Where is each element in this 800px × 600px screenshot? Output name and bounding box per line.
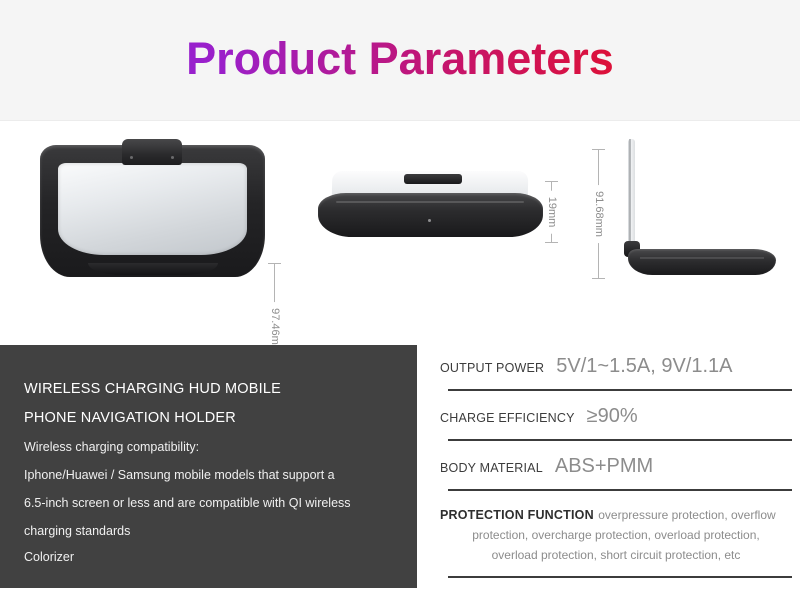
- hud-base-foot: [88, 263, 218, 275]
- spec-label-protection-function: PROTECTION FUNCTION: [440, 508, 594, 522]
- product-image-strip: 159.76mm 97.46mm 19mm 91.68mm: [0, 121, 800, 335]
- product-side-view: [618, 137, 778, 267]
- product-name-line2: PHONE NAVIGATION HOLDER: [24, 404, 393, 433]
- compatibility-label: Wireless charging compatibility:: [24, 433, 393, 461]
- spec-label-output-power: OUTPUT POWER: [440, 361, 544, 375]
- compatibility-line-1: Iphone/Huawei / Samsung mobile models th…: [24, 461, 393, 489]
- product-front-view: [40, 139, 265, 284]
- hud-top-clip: [122, 139, 182, 165]
- folded-base: [318, 193, 543, 237]
- compatibility-line-2: 6.5-inch screen or less and are compatib…: [24, 489, 393, 517]
- spec-row-body-material: BODY MATERIAL ABS+PMM: [440, 455, 792, 478]
- spec-value-protection-line1: overpressure protection, overflow: [598, 508, 775, 522]
- description-panel: WIRELESS CHARGING HUD MOBILE PHONE NAVIG…: [0, 345, 417, 588]
- dimension-stand-height: 91.68mm: [592, 149, 606, 279]
- spec-row-protection-function: PROTECTION FUNCTION overpressure protect…: [440, 505, 792, 565]
- spec-value-charge-efficiency: ≥90%: [587, 405, 638, 428]
- spec-divider: [448, 389, 792, 391]
- spec-divider: [448, 576, 792, 578]
- product-name-line1: WIRELESS CHARGING HUD MOBILE: [24, 375, 393, 404]
- spec-row-charge-efficiency: CHARGE EFFICIENCY ≥90%: [440, 405, 792, 428]
- side-base: [628, 249, 776, 275]
- dimension-thickness: 19mm: [545, 181, 559, 243]
- side-reflector-blade: [628, 139, 635, 249]
- colorizer-line: Colorizer: [24, 545, 393, 569]
- compatibility-line-3: charging standards: [24, 517, 393, 545]
- folded-seam: [336, 201, 524, 203]
- dimension-tick-end: [592, 278, 605, 279]
- spec-table: OUTPUT POWER 5V/1~1.5A, 9V/1.1A CHARGE E…: [440, 345, 792, 588]
- dimension-tick-end: [545, 242, 558, 243]
- spec-value-body-material: ABS+PMM: [555, 455, 653, 478]
- dimension-thickness-label: 19mm: [546, 191, 558, 234]
- dimension-stand-height-label: 91.68mm: [593, 185, 605, 243]
- product-folded-view: [318, 171, 543, 247]
- spec-divider: [448, 489, 792, 491]
- spec-value-protection-line3: overload protection, short circuit prote…: [440, 545, 792, 565]
- folded-clip: [404, 174, 462, 184]
- spec-label-charge-efficiency: CHARGE EFFICIENCY: [440, 411, 575, 425]
- dimension-tick-start: [545, 181, 558, 182]
- spec-value-output-power: 5V/1~1.5A, 9V/1.1A: [556, 355, 732, 378]
- dimension-tick-start: [592, 149, 605, 150]
- dimension-tick-start: [268, 263, 281, 264]
- spec-label-body-material: BODY MATERIAL: [440, 461, 543, 475]
- page-title: Product Parameters: [0, 30, 800, 88]
- spec-value-protection-line2: protection, overcharge protection, overl…: [440, 525, 792, 545]
- folded-indicator-dot: [428, 219, 431, 222]
- spec-divider: [448, 439, 792, 441]
- hud-reflector-glass: [58, 163, 247, 255]
- spec-row-output-power: OUTPUT POWER 5V/1~1.5A, 9V/1.1A: [440, 345, 792, 378]
